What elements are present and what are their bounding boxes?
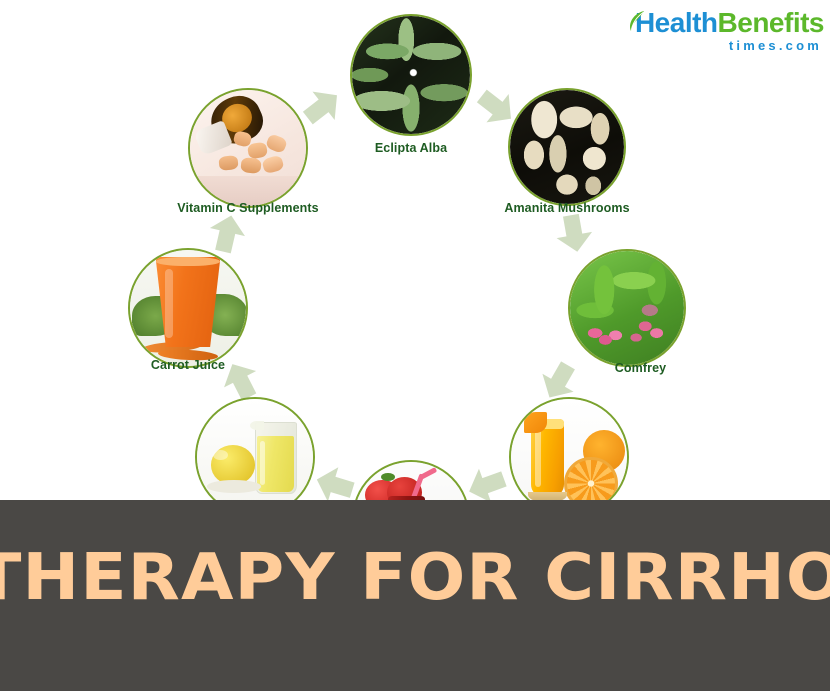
- logo-domain-text: times.com: [612, 38, 824, 54]
- infographic-canvas: HealthBenefits times.com Eclipta Alba Am…: [0, 0, 830, 691]
- vitamin-c-pill-bottle-photo: [190, 90, 306, 206]
- logo-benefits-text: Benefits: [718, 7, 824, 38]
- comfrey-flowers-photo: [570, 251, 684, 365]
- node-image-eclipta-alba[interactable]: [350, 14, 472, 136]
- node-image-carrot-juice[interactable]: [128, 248, 248, 368]
- node-image-amanita-mushrooms[interactable]: [508, 88, 626, 206]
- logo-wordmark: HealthBenefits: [612, 8, 824, 38]
- logo-health-text: Health: [635, 7, 718, 38]
- lemon-juice-pitcher-photo: [197, 399, 313, 515]
- cycle-arrow-3: [549, 208, 598, 259]
- node-label-comfrey: Comfrey: [588, 361, 693, 375]
- title-banner: THERAPY FOR CIRRHOSIS: [0, 500, 830, 691]
- amanita-mushrooms-photo: [510, 90, 624, 204]
- node-image-vitamin-c-supplements[interactable]: [188, 88, 308, 208]
- eclipta-alba-plant-photo: [352, 16, 470, 134]
- node-image-oranges-juice[interactable]: [509, 397, 629, 517]
- leaf-icon: [628, 10, 646, 32]
- carrot-juice-glass-photo: [130, 250, 246, 366]
- site-logo[interactable]: HealthBenefits times.com: [612, 8, 824, 60]
- orange-juice-glass-photo: [511, 399, 627, 515]
- node-label-carrot-juice: Carrot Juice: [118, 358, 258, 372]
- node-image-lemon-juice[interactable]: [195, 397, 315, 517]
- page-title: THERAPY FOR CIRRHOSIS: [0, 543, 830, 613]
- node-image-comfrey[interactable]: [568, 249, 686, 367]
- node-label-amanita-mushrooms: Amanita Mushrooms: [487, 201, 647, 215]
- node-label-vitamin-c-supplements: Vitamin C Supplements: [158, 201, 338, 215]
- node-label-eclipta-alba: Eclipta Alba: [350, 141, 472, 155]
